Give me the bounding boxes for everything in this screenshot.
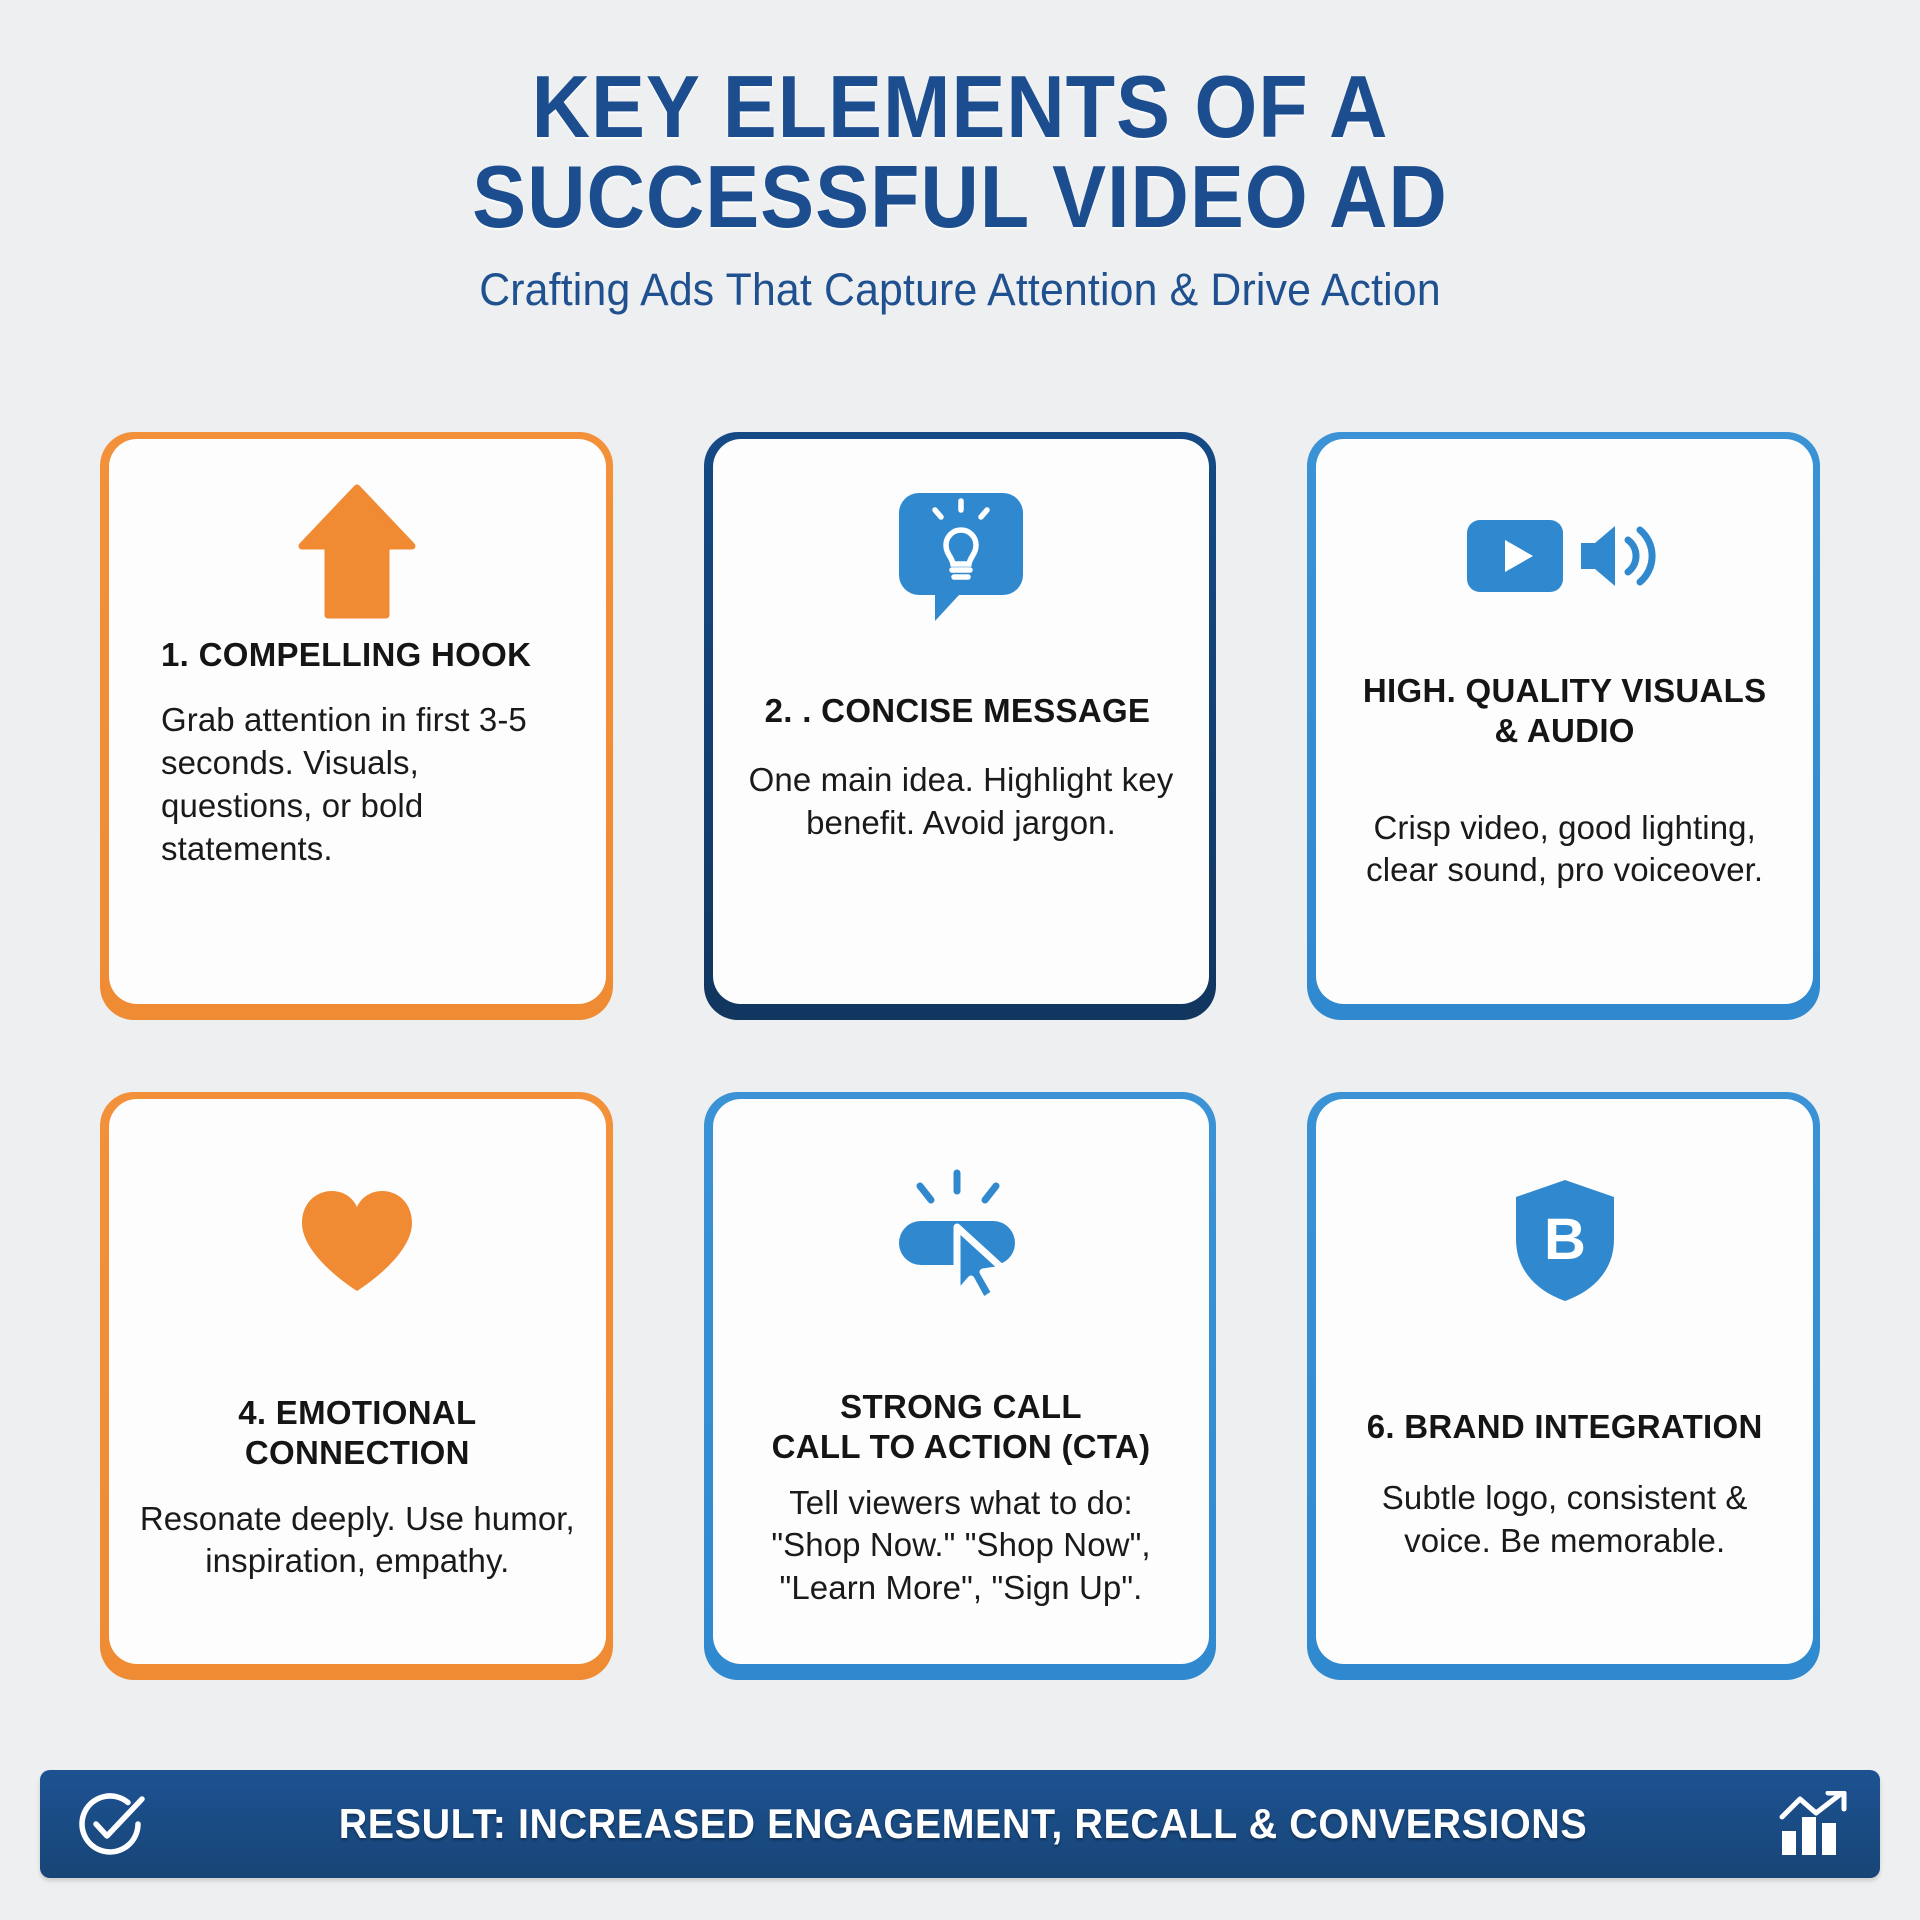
card-emotional-connection[interactable]: 4. EMOTIONAL CONNECTION Resonate deeply.…: [100, 1092, 613, 1680]
card-compelling-hook[interactable]: 1. COMPELLING HOOK Grab attention in fir…: [100, 432, 613, 1020]
shield-letter: B: [1544, 1207, 1586, 1272]
card-title: HIGH. QUALITY VISUALS & AUDIO: [1346, 671, 1783, 752]
card-body: Crisp video, good lighting, clear sound,…: [1346, 807, 1783, 893]
cards-grid: 1. COMPELLING HOOK Grab attention in fir…: [100, 432, 1820, 1680]
card-title: STRONG CALL CALL TO ACTION (CTA): [743, 1387, 1180, 1468]
lightbulb-speech-bubble-icon: [897, 481, 1025, 631]
card-body: Grab attention in first 3-5 seconds. Vis…: [139, 699, 576, 871]
shield-b-icon: B: [1511, 1141, 1619, 1341]
heart-icon: [296, 1141, 418, 1341]
card-concise-message[interactable]: 2. . CONCISE MESSAGE One main idea. High…: [704, 432, 1217, 1020]
infographic-page: KEY ELEMENTS OF A SUCCESSFUL VIDEO AD Cr…: [0, 0, 1920, 1920]
up-arrow-icon: [298, 481, 416, 621]
play-speaker-icon: [1465, 481, 1665, 631]
card-high-quality-visuals-audio[interactable]: HIGH. QUALITY VISUALS & AUDIO Crisp vide…: [1307, 432, 1820, 1020]
card-title-line-1: STRONG CALL: [840, 1388, 1082, 1425]
card-body: Subtle logo, consistent & voice. Be memo…: [1346, 1477, 1783, 1563]
header: KEY ELEMENTS OF A SUCCESSFUL VIDEO AD Cr…: [0, 0, 1920, 316]
card-body: One main idea. Highlight key benefit. Av…: [743, 759, 1180, 845]
card-title: 6. BRAND INTEGRATION: [1346, 1407, 1783, 1447]
page-title: KEY ELEMENTS OF A SUCCESSFUL VIDEO AD: [77, 62, 1843, 242]
card-title: 4. EMOTIONAL CONNECTION: [139, 1393, 576, 1474]
result-text: RESULT: INCREASED ENGAGEMENT, RECALL & C…: [197, 1800, 1729, 1848]
card-title: 2. . CONCISE MESSAGE: [743, 691, 1151, 731]
card-body: Tell viewers what to do: "Shop Now." "Sh…: [743, 1482, 1180, 1611]
card-body: Resonate deeply. Use humor, inspiration,…: [139, 1498, 576, 1584]
card-title: 1. COMPELLING HOOK: [139, 635, 531, 675]
check-circle-icon: [72, 1786, 148, 1862]
page-subtitle: Crafting Ads That Capture Attention & Dr…: [48, 264, 1872, 316]
card-title-line-2: CALL TO ACTION (CTA): [772, 1428, 1151, 1465]
card-brand-integration[interactable]: B 6. BRAND INTEGRATION Subtle logo, cons…: [1307, 1092, 1820, 1680]
card-strong-call-to-action[interactable]: STRONG CALL CALL TO ACTION (CTA) Tell vi…: [704, 1092, 1217, 1680]
title-line-2: SUCCESSFUL VIDEO AD: [77, 152, 1843, 242]
growth-bar-chart-icon: [1778, 1791, 1850, 1857]
cursor-click-icon: [895, 1141, 1027, 1331]
title-line-1: KEY ELEMENTS OF A: [532, 57, 1389, 156]
result-banner: RESULT: INCREASED ENGAGEMENT, RECALL & C…: [40, 1770, 1880, 1878]
